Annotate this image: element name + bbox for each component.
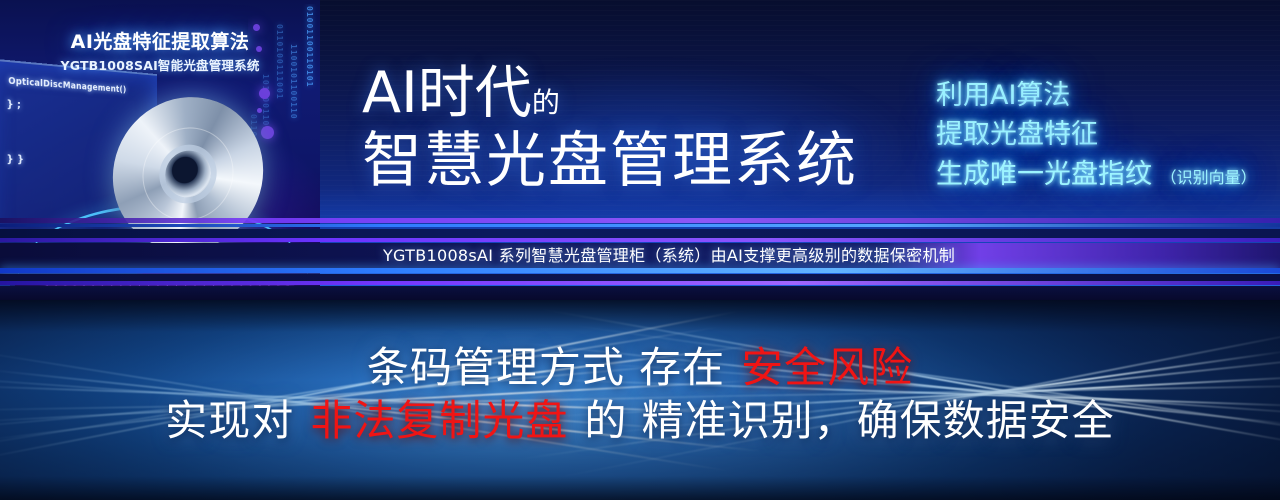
subtitle-bar-text: YGTB1008sAI 系列智慧光盘管理柜（系统）由AI支撑更高级别的数据保密机… bbox=[0, 243, 1280, 268]
headline-block: AI时代的 智慧光盘管理系统 bbox=[362, 64, 858, 193]
feature-item-3: 生成唯一光盘指纹 （识别向量） bbox=[936, 155, 1257, 194]
feature-item-1-text: 利用AI算法 bbox=[936, 80, 1070, 111]
bottom-section: 条码管理方式 存在安全风险 实现对非法复制光盘的 精准识别，确保数据安全 bbox=[0, 300, 1280, 500]
headline-line-2: 智慧光盘管理系统 bbox=[362, 130, 858, 193]
feature-item-2: 提取光盘特征 bbox=[936, 115, 1257, 154]
feature-list: 利用AI算法 提取光盘特征 生成唯一光盘指纹 （识别向量） bbox=[936, 76, 1257, 194]
particle-dot bbox=[257, 108, 262, 113]
bottom-line-1-highlight: 安全风险 bbox=[741, 343, 913, 392]
feature-item-3-note: （识别向量） bbox=[1161, 168, 1257, 187]
headline-line-1-suffix: 的 bbox=[532, 86, 560, 119]
code-brace-1: } ; bbox=[6, 97, 21, 111]
bottom-line-1: 条码管理方式 存在安全风险 bbox=[0, 342, 1280, 395]
bottom-line-2-part2: 的 精准识别，确保数据安全 bbox=[584, 396, 1114, 445]
headline-line-1: AI时代的 bbox=[362, 64, 858, 122]
feature-item-1: 利用AI算法 bbox=[936, 76, 1257, 115]
bottom-line-2-part1: 实现对 bbox=[165, 396, 294, 445]
feature-item-3-text: 生成唯一光盘指纹 bbox=[936, 159, 1152, 190]
bottom-line-2-highlight: 非法复制光盘 bbox=[310, 396, 568, 445]
bottom-message: 条码管理方式 存在安全风险 实现对非法复制光盘的 精准识别，确保数据安全 bbox=[0, 342, 1280, 448]
particle-dot bbox=[261, 126, 274, 139]
band-stripe bbox=[0, 229, 1280, 238]
band-stripe bbox=[0, 238, 1280, 242]
top-section: OpticalDiscManagement() } ; } } } ; 0100… bbox=[0, 0, 1280, 300]
particle-dot bbox=[259, 88, 270, 99]
band-stripe bbox=[0, 281, 1280, 285]
divider-band: YGTB1008sAI 系列智慧光盘管理柜（系统）由AI支撑更高级别的数据保密机… bbox=[0, 218, 1280, 300]
code-brace-2: } } bbox=[6, 152, 24, 165]
band-stripe bbox=[0, 286, 1280, 300]
bottom-line-2: 实现对非法复制光盘的 精准识别，确保数据安全 bbox=[0, 395, 1280, 448]
band-stripe bbox=[0, 268, 1280, 273]
band-stripe bbox=[0, 224, 1280, 227]
bottom-line-1-part1: 条码管理方式 存在 bbox=[367, 343, 725, 392]
headline-line-1-main: AI时代 bbox=[362, 60, 532, 126]
code-line-main: OpticalDiscManagement() bbox=[8, 76, 151, 97]
band-stripe bbox=[0, 274, 1280, 281]
disc-inner-ring bbox=[135, 118, 242, 231]
promo-banner: OpticalDiscManagement() } ; } } } ; 0100… bbox=[0, 0, 1280, 500]
panel-title: AI光盘特征提取算法 bbox=[0, 27, 320, 54]
band-stripe bbox=[0, 218, 1280, 223]
panel-subtitle: YGTB1008SAI智能光盘管理系统 bbox=[0, 55, 320, 74]
feature-item-2-text: 提取光盘特征 bbox=[936, 119, 1098, 150]
